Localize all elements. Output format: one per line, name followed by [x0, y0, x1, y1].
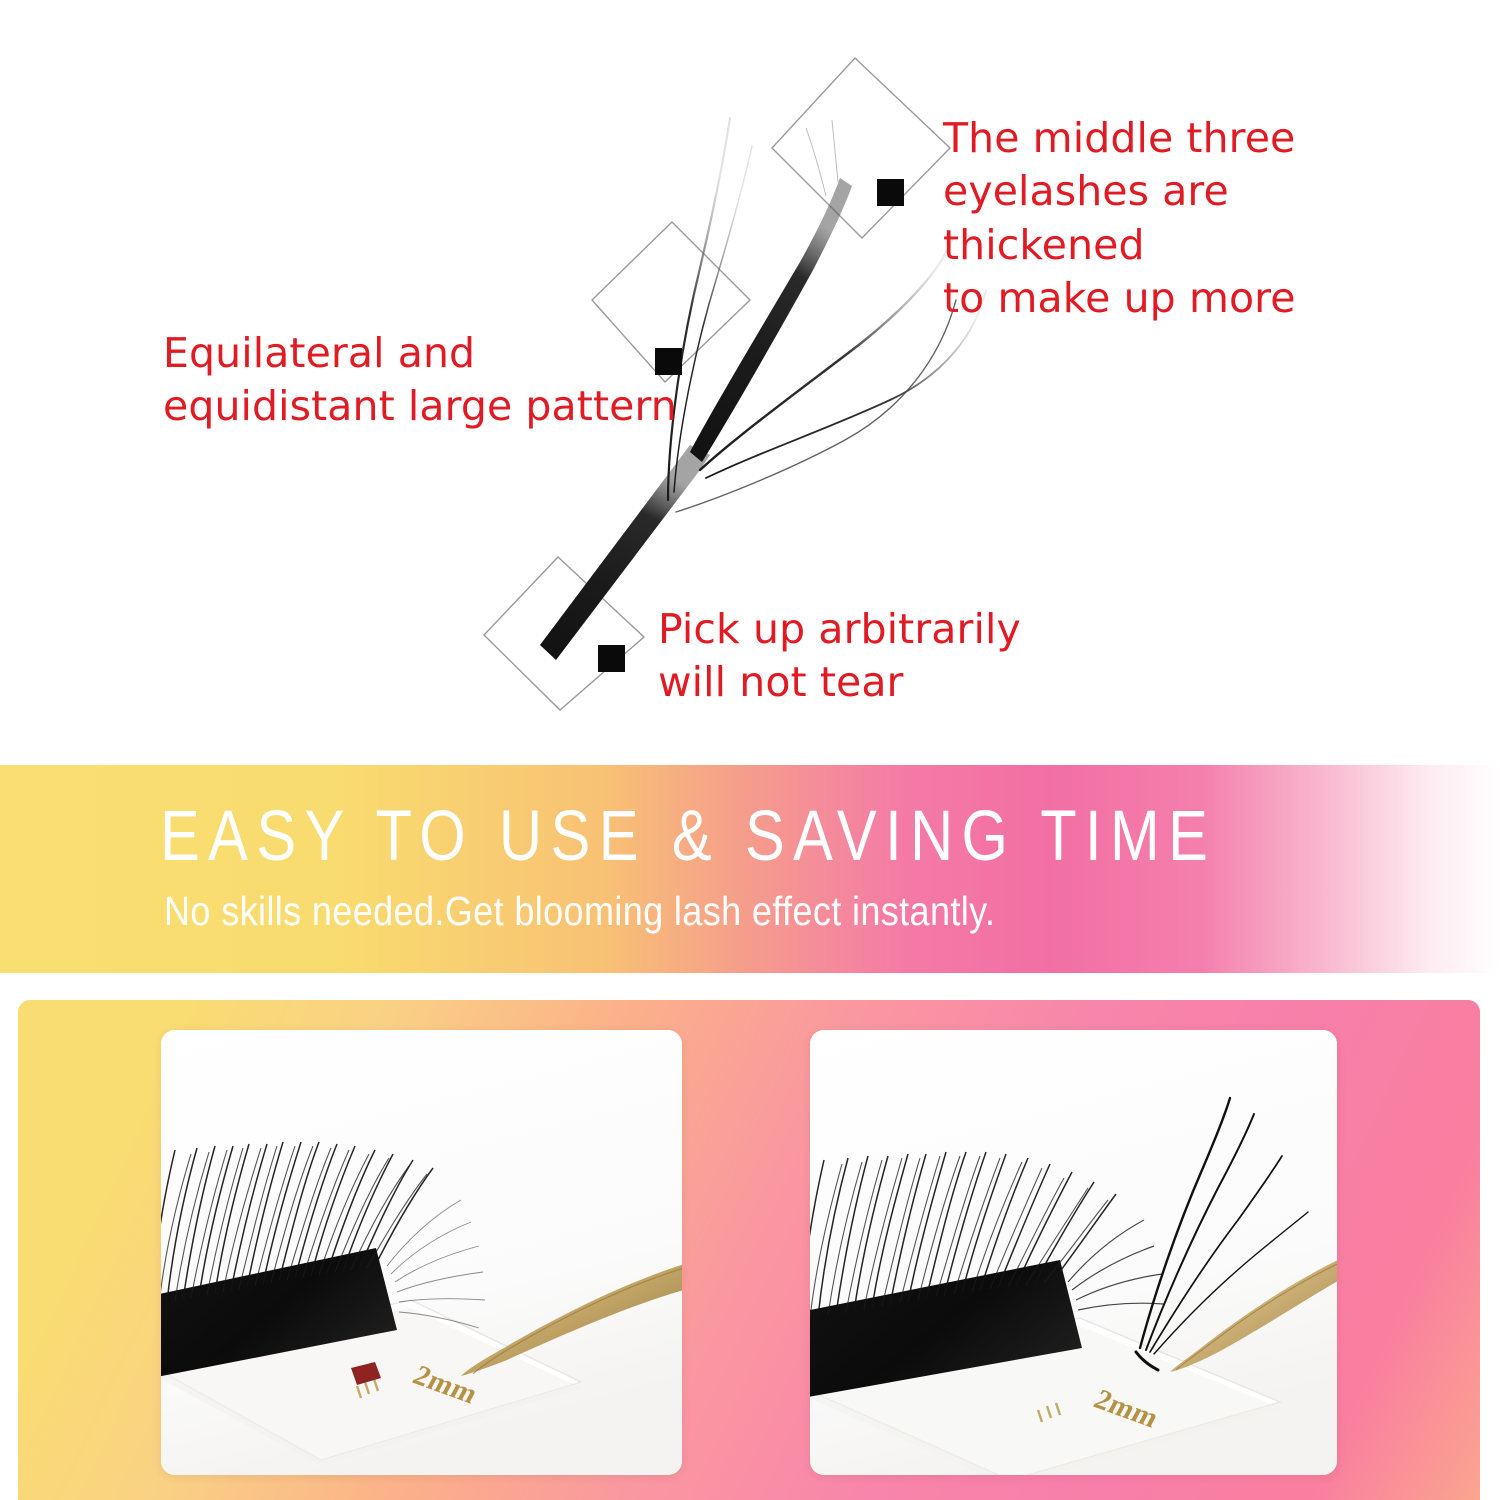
lash-fiber-right-1 [700, 240, 952, 470]
lash-diagram-section: The middle three eyelashes are thickened… [0, 0, 1500, 760]
banner-headline: EASY TO USE & SAVING TIME [160, 801, 1216, 872]
callout-label-pick-up: Pick up arbitrarily will not tear [658, 603, 1078, 710]
diamond-outline-top [772, 58, 950, 238]
callout-marker-square-icon [877, 179, 904, 206]
callout-marker-square-icon [598, 645, 625, 672]
banner-subtitle: No skills needed.Get blooming lash effec… [164, 889, 995, 934]
product-photo-left: 2mm [161, 1030, 682, 1475]
callout-label-equilateral: Equilateral and equidistant large patter… [163, 327, 683, 434]
lash-main-body [690, 178, 852, 462]
callout-label-middle-three: The middle three eyelashes are thickened… [943, 112, 1413, 325]
product-photo-panel: 2mm [18, 1000, 1480, 1500]
lash-fan-pickup-photo: 2mm [810, 1030, 1337, 1475]
lash-tray-tweezers-photo: 2mm [161, 1030, 682, 1475]
product-photo-right: 2mm [810, 1030, 1337, 1475]
lash-fiber-wisp-2 [832, 120, 838, 182]
